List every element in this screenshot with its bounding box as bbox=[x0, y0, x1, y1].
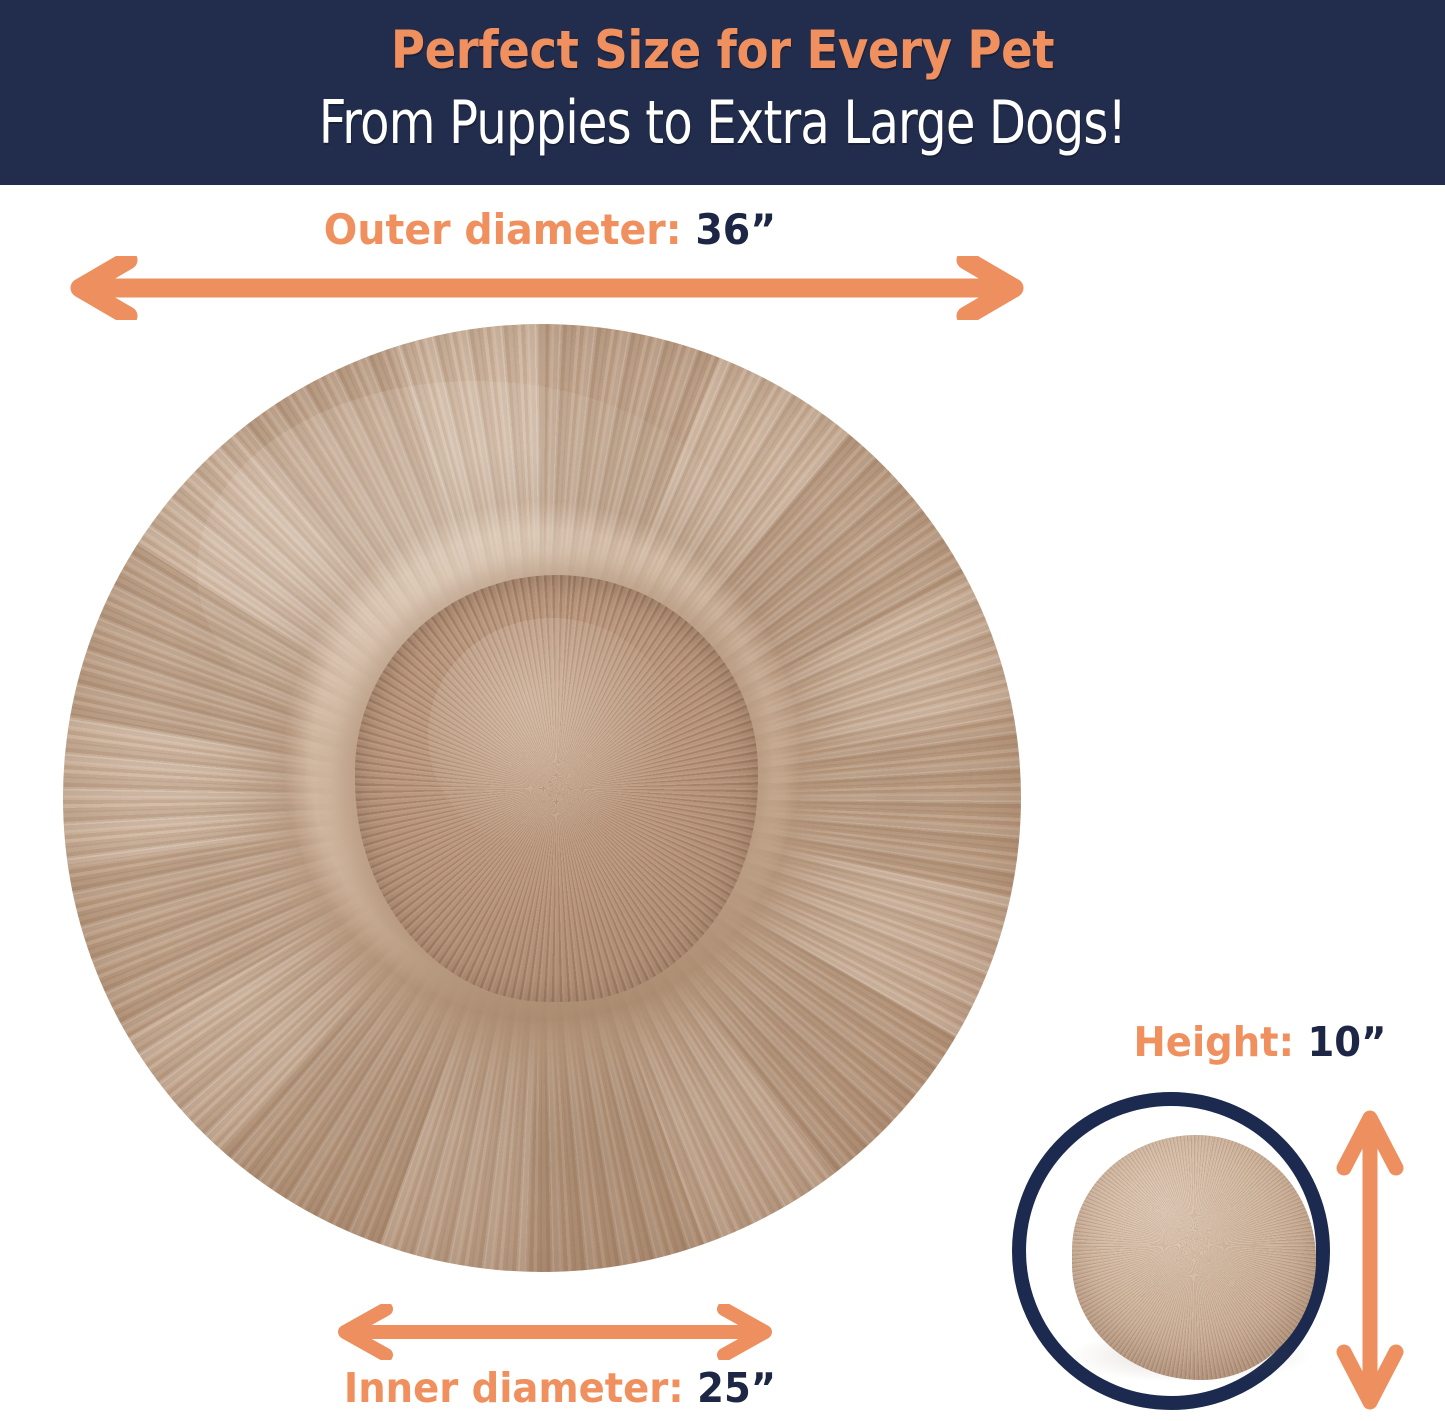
page-subtitle: From Puppies to Extra Large Dogs! bbox=[145, 88, 1301, 158]
outer-diameter-value: 36” bbox=[695, 205, 776, 254]
double-headed-horizontal-arrow-icon bbox=[330, 1304, 780, 1360]
bed-top-view-image bbox=[63, 324, 1021, 1272]
double-headed-vertical-arrow-icon bbox=[1336, 1104, 1404, 1416]
bed-side-fur-texture bbox=[1072, 1135, 1316, 1380]
outer-diameter-label: Outer diameter: 36” bbox=[33, 209, 1067, 251]
page-title: Perfect Size for Every Pet bbox=[87, 20, 1359, 81]
bed-inner-highlight bbox=[428, 618, 677, 853]
height-label: Height: 10” bbox=[1096, 1022, 1425, 1063]
bed-side-view-image bbox=[1072, 1135, 1316, 1380]
double-headed-horizontal-arrow-icon bbox=[62, 256, 1032, 320]
infographic-page: Perfect Size for Every Pet From Puppies … bbox=[0, 0, 1445, 1421]
bed-inner-cushion bbox=[355, 575, 757, 1002]
inner-diameter-value: 25” bbox=[697, 1364, 776, 1412]
inner-diameter-label: Inner diameter: 25” bbox=[269, 1368, 852, 1409]
outer-diameter-label-text: Outer diameter: bbox=[324, 205, 682, 254]
height-value: 10” bbox=[1307, 1018, 1386, 1066]
header-banner: Perfect Size for Every Pet From Puppies … bbox=[0, 0, 1445, 185]
height-label-text: Height: bbox=[1134, 1018, 1294, 1066]
inner-diameter-label-text: Inner diameter: bbox=[344, 1364, 684, 1412]
bed-outer-rim bbox=[63, 324, 1021, 1272]
